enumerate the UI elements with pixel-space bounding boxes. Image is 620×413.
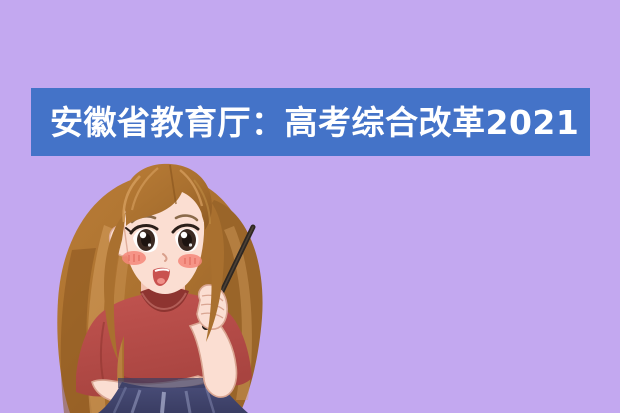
thumbnail-canvas: 安徽省教育厅：高考综合改革2021: [0, 0, 620, 413]
title-banner: 安徽省教育厅：高考综合改革2021: [31, 88, 590, 156]
banner-title-text: 安徽省教育厅：高考综合改革2021: [50, 106, 579, 139]
girl-teacher-illustration: [0, 0, 620, 413]
